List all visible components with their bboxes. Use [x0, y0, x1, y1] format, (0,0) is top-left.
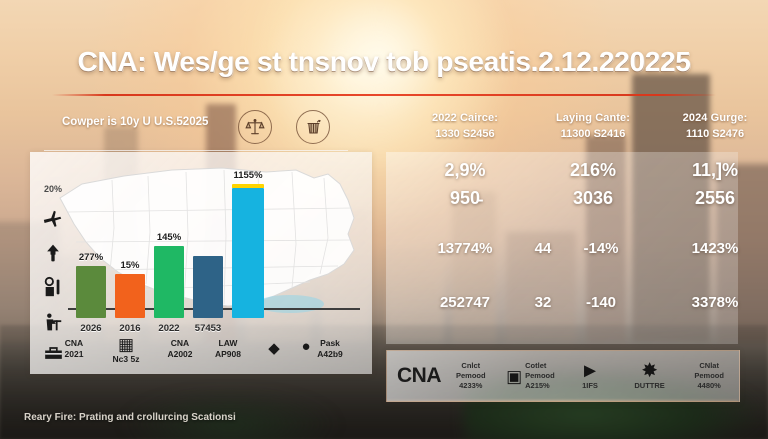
subhead-row: Cowper is 10y U U.S.52025 2022 Cairce: 1…	[0, 104, 768, 148]
bar-series: 277% 2026 15% 2016 145% 2022 57453 1155%	[70, 160, 310, 332]
data-panel: 2,9% 216% 11,]% 950̵ 3036 2556 13774% 44…	[386, 152, 738, 344]
brand-item-4-line2: Pemood	[694, 371, 724, 381]
legend-item-6: Pask A42b9	[298, 338, 362, 360]
subhead-divider	[44, 150, 348, 151]
bar-column-0: 277% 2026	[76, 266, 106, 318]
bar-tick-2: 2022	[158, 323, 179, 334]
bar-column-3: 57453	[193, 256, 223, 318]
brand-item-0: Cnlct Pemood 4233%	[441, 361, 501, 391]
brand-item-0-line2: Pemood	[456, 371, 486, 381]
page-title: CNA: Wes/ge st tnsnov tob pseatis.2.12.2…	[0, 46, 768, 78]
bar-value-4: 1155%	[233, 170, 262, 181]
brand-item-1-line1: Cotlet	[525, 361, 555, 371]
brand-item-4-line1: CNlat	[699, 361, 719, 371]
brand-item-1: ▣ Cotlet Pemood A215%	[501, 361, 561, 391]
brand-item-3: ✸ DUTTRE	[620, 362, 680, 391]
data-cell-2-2: 1423%	[640, 240, 768, 257]
brand-item-2: ► 1IFS	[560, 362, 620, 391]
bar-tick-1: 2016	[119, 323, 140, 334]
bar-column-2: 145% 2022	[154, 246, 184, 318]
data-row-2: 13774% 44 -14% 1423%	[386, 240, 738, 284]
tree-icon	[40, 240, 66, 266]
column-header-2-title: 2024 Gurge:	[640, 112, 768, 124]
legend-line2-6: A42b9	[298, 349, 362, 360]
brand-item-0-line1: Cnlct	[461, 361, 480, 371]
data-cell-3-1b: -140	[556, 294, 646, 311]
brand-item-2-line1: 1IFS	[582, 381, 598, 391]
data-row-1: 950̵ 3036 2556	[386, 188, 738, 232]
data-cell-1-2: 2556	[640, 188, 768, 209]
bar-column-4: 1155%	[232, 184, 264, 318]
chart-panel: 20%	[30, 152, 372, 374]
brand-item-4: CNlat Pemood 4480%	[679, 361, 739, 391]
y-axis-label: 20%	[44, 184, 62, 194]
data-row-3: 252747 32 -140 3378%	[386, 294, 738, 338]
data-cell-0-2: 11,]%	[640, 160, 768, 181]
brand-item-1-line3: A215%	[525, 381, 555, 391]
bar-value-0: 277%	[79, 252, 103, 263]
brand-logo: CNA	[397, 364, 441, 388]
bar-value-2: 145%	[157, 232, 181, 243]
subhead-label: Cowper is 10y U U.S.52025	[62, 116, 208, 128]
bar-tick-3: 57453	[195, 323, 221, 334]
barrel-icon	[296, 110, 330, 144]
person-lamp-icon	[40, 274, 66, 300]
legend-line1-6: Pask	[298, 338, 362, 349]
brand-item-3-line1: DUTTRE	[634, 381, 664, 391]
airplane-icon	[40, 206, 66, 232]
bar-column-1: 15% 2016	[115, 274, 145, 318]
bar-rect-2	[154, 246, 184, 318]
bar-rect-0	[76, 266, 106, 318]
box-icon: ▣	[506, 367, 522, 386]
infographic-root: CNA: Wes/ge st tnsnov tob pseatis.2.12.2…	[0, 0, 768, 439]
bar-rect-3	[193, 256, 223, 318]
data-cell-2-1b: -14%	[556, 240, 646, 257]
column-header-2-value: 1110 S2476	[640, 128, 768, 140]
person-desk-icon	[40, 310, 66, 336]
header: CNA: Wes/ge st tnsnov tob pseatis.2.12.2…	[0, 0, 768, 96]
footer-note: Reary Fire: Prating and crollurcing Scat…	[24, 412, 236, 423]
bar-rect-1	[115, 274, 145, 318]
burst-icon: ✸	[641, 362, 658, 381]
bar-tick-0: 2026	[80, 323, 101, 334]
bar-value-1: 15%	[120, 260, 139, 271]
bar-rect-4	[232, 188, 264, 318]
column-header-2: 2024 Gurge: 1110 S2476	[640, 112, 768, 140]
brand-item-4-line3: 4480%	[697, 381, 720, 391]
data-cell-3-2: 3378%	[640, 294, 768, 311]
scales-icon	[238, 110, 272, 144]
brand-item-0-line3: 4233%	[459, 381, 482, 391]
banner-icon: ►	[580, 362, 600, 381]
left-legend: CNA 2021 ▦ Nc3 5z CNA A2002 LAW AP908 ◆	[42, 338, 360, 372]
brand-item-1-line2: Pemood	[525, 371, 555, 381]
brand-strip: CNA Cnlct Pemood 4233% ▣ Cotlet Pemood A…	[386, 350, 740, 402]
title-divider	[52, 94, 716, 96]
